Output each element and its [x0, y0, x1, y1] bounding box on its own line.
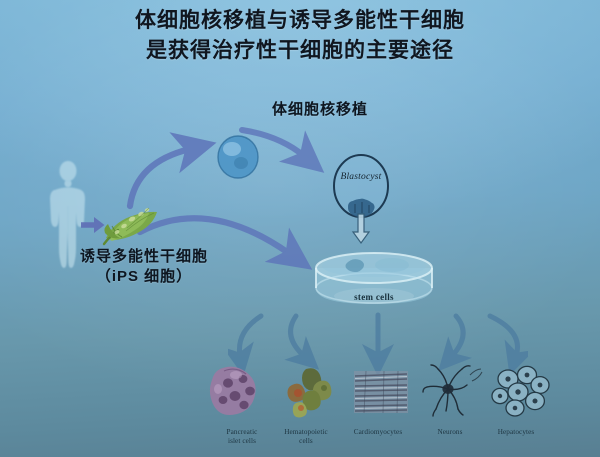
caption-line-2: cells [268, 437, 344, 446]
caption-line-1: Hematopoietic [268, 428, 344, 437]
derived-cell-types-row [200, 363, 560, 421]
blastocyst-label: Blastocyst [330, 172, 392, 182]
blastocyst-illustration [328, 154, 394, 246]
neurons-image [422, 363, 484, 417]
label-somatic-cell-nuclear-transfer: 体细胞核移植 [272, 100, 368, 120]
caption-line-1: Neurons [412, 428, 488, 437]
presentation-slide: 体细胞核移植与诱导多能性干细胞 是获得治疗性干细胞的主要途径 [0, 0, 600, 457]
caption-hematopoietic-cells: Hematopoietic cells [268, 428, 344, 446]
caption-hepatocytes: Hepatocytes [478, 428, 554, 437]
pancreatic-islet-cells-image [206, 363, 268, 417]
petri-dish-illustration [312, 248, 436, 320]
hematopoietic-cells-image [278, 365, 340, 419]
caption-line-1: Hepatocytes [478, 428, 554, 437]
arrow-to-pancreatic-islet-cells [239, 316, 261, 356]
title-line-1: 体细胞核移植与诱导多能性干细胞 [0, 6, 600, 36]
oocyte-illustration [215, 133, 261, 181]
label-ips-cells: 诱导多能性干细胞 （iPS 细胞） [80, 247, 208, 287]
arrow-to-hepatocytes [490, 316, 518, 356]
slide-title: 体细胞核移植与诱导多能性干细胞 是获得治疗性干细胞的主要途径 [0, 6, 600, 66]
somatic-cell-cluster-illustration [102, 198, 160, 246]
arrow-to-hematopoietic-cells [291, 316, 304, 356]
caption-cardiomyocytes: Cardiomyocytes [340, 428, 416, 437]
arrow-to-neurons [452, 316, 463, 356]
label-ips-line-2: （iPS 细胞） [80, 267, 208, 287]
stem-cells-label: stem cells [322, 292, 426, 302]
caption-neurons: Neurons [412, 428, 488, 437]
caption-line-1: Cardiomyocytes [340, 428, 416, 437]
hepatocytes-image [490, 363, 552, 417]
title-line-2: 是获得治疗性干细胞的主要途径 [0, 36, 600, 66]
cardiomyocytes-image [350, 365, 412, 419]
label-ips-line-1: 诱导多能性干细胞 [80, 247, 208, 267]
